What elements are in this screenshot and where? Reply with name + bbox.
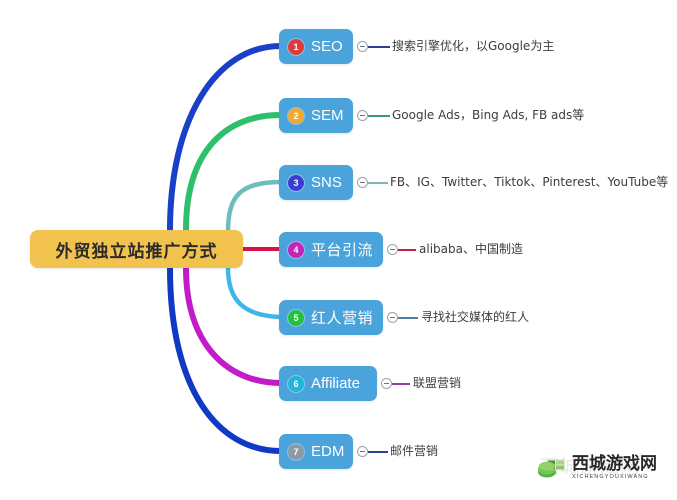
topic-node-edm[interactable]: 7 EDM <box>279 434 353 469</box>
branch-curve-5 <box>228 268 285 317</box>
root-node-label: 外贸独立站推广方式 <box>56 237 218 262</box>
topic-description-affiliate: 联盟营销 <box>413 376 461 390</box>
leader-line-4 <box>398 249 416 251</box>
leader-line-3 <box>368 182 388 184</box>
topic-label-affiliate: Affiliate <box>311 375 360 392</box>
topic-node-seo[interactable]: 1 SEO <box>279 29 353 64</box>
branch-curve-7 <box>170 268 281 451</box>
leader-line-7 <box>368 451 388 453</box>
collapse-toggle-7[interactable] <box>357 446 368 457</box>
watermark-subtitle: XICHENGYOUXIWANG <box>572 474 657 481</box>
topic-label-seo: SEO <box>311 38 343 55</box>
topic-description-seo: 搜索引擎优化，以Google为主 <box>392 39 554 53</box>
topic-node-sem[interactable]: 2 SEM <box>279 98 353 133</box>
collapse-toggle-2[interactable] <box>357 110 368 121</box>
topic-node-affiliate[interactable]: 6 Affiliate <box>279 366 377 401</box>
collapse-toggle-1[interactable] <box>357 41 368 52</box>
watermark-logo-icon <box>538 456 568 480</box>
watermark-title: 西城游戏网 <box>572 455 657 473</box>
topic-badge-2: 2 <box>288 108 304 124</box>
topic-description-influencer-marketing: 寻找社交媒体的红人 <box>421 310 529 324</box>
topic-badge-6: 6 <box>288 376 304 392</box>
branch-curve-1 <box>170 46 281 230</box>
topic-label-platform-traffic: 平台引流 <box>311 239 373 260</box>
topic-badge-1: 1 <box>288 39 304 55</box>
watermark: 西城游戏网 XICHENGYOUXIWANG <box>538 455 657 481</box>
leader-line-5 <box>398 317 418 319</box>
collapse-toggle-4[interactable] <box>387 244 398 255</box>
topic-node-platform-traffic[interactable]: 4 平台引流 <box>279 232 383 267</box>
mindmap-canvas: 外贸独立站推广方式 1 SEO 搜索引擎优化，以Google为主 2 SEM G… <box>0 0 677 500</box>
topic-description-sns: FB、IG、Twitter、Tiktok、Pinterest、YouTube等 <box>390 175 668 189</box>
watermark-text-block: 西城游戏网 XICHENGYOUXIWANG <box>572 455 657 481</box>
collapse-toggle-3[interactable] <box>357 177 368 188</box>
topic-description-edm: 邮件营销 <box>390 444 438 458</box>
branch-curve-2 <box>186 115 281 230</box>
root-node[interactable]: 外贸独立站推广方式 <box>30 230 243 268</box>
leader-line-6 <box>392 383 410 385</box>
leader-line-2 <box>368 115 390 117</box>
topic-badge-7: 7 <box>288 444 304 460</box>
topic-node-influencer-marketing[interactable]: 5 红人营销 <box>279 300 383 335</box>
topic-node-sns[interactable]: 3 SNS <box>279 165 353 200</box>
collapse-toggle-6[interactable] <box>381 378 392 389</box>
topic-label-edm: EDM <box>311 443 344 460</box>
topic-description-sem: Google Ads，Bing Ads, FB ads等 <box>392 108 584 122</box>
topic-label-sem: SEM <box>311 107 344 124</box>
topic-badge-3: 3 <box>288 175 304 191</box>
topic-badge-4: 4 <box>288 242 304 258</box>
collapse-toggle-5[interactable] <box>387 312 398 323</box>
topic-description-platform-traffic: alibaba、中国制造 <box>419 242 523 256</box>
topic-label-influencer-marketing: 红人营销 <box>311 307 373 328</box>
branch-curve-6 <box>186 268 281 383</box>
branch-curve-3 <box>228 182 281 232</box>
topic-label-sns: SNS <box>311 174 342 191</box>
topic-badge-5: 5 <box>288 310 304 326</box>
leader-line-1 <box>368 46 390 48</box>
